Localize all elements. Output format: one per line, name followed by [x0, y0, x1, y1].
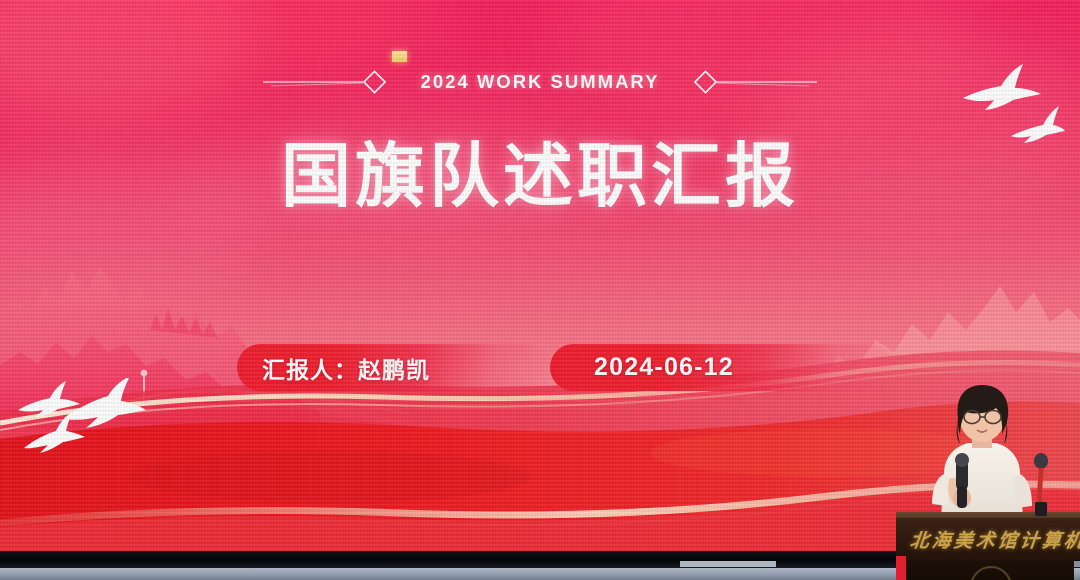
- podium-inscription: 北海美术馆计算机: [909, 526, 1080, 553]
- handheld-microphone-icon: [955, 453, 969, 508]
- slide-eyebrow-row: 2024 WORK SUMMARY: [0, 70, 1080, 94]
- doves-bottom-left: [8, 378, 148, 488]
- diamond-ornament-left: [263, 70, 393, 94]
- podium: 北海美术馆计算机: [896, 512, 1080, 580]
- gold-accent-chip: [392, 51, 407, 62]
- bezel-highlight: [680, 561, 776, 567]
- doves-top-right: [945, 52, 1065, 152]
- presenter-pill: 汇报人：赵鹏凯: [237, 344, 552, 391]
- eyebrow-text: 2024 WORK SUMMARY: [393, 71, 688, 93]
- presentation-photo: 2024 WORK SUMMARY 国旗队述职汇报 汇报人：赵鹏凯 2024-0…: [0, 0, 1080, 580]
- podium-face: 北海美术馆计算机: [896, 518, 1080, 560]
- gooseneck-microphone-icon: [1026, 452, 1056, 516]
- podium-side-panel: [896, 556, 906, 580]
- slide-main-title: 国旗队述职汇报: [0, 141, 1080, 211]
- date-pill: 2024-06-12: [550, 344, 894, 391]
- diamond-ornament-right: [687, 70, 817, 94]
